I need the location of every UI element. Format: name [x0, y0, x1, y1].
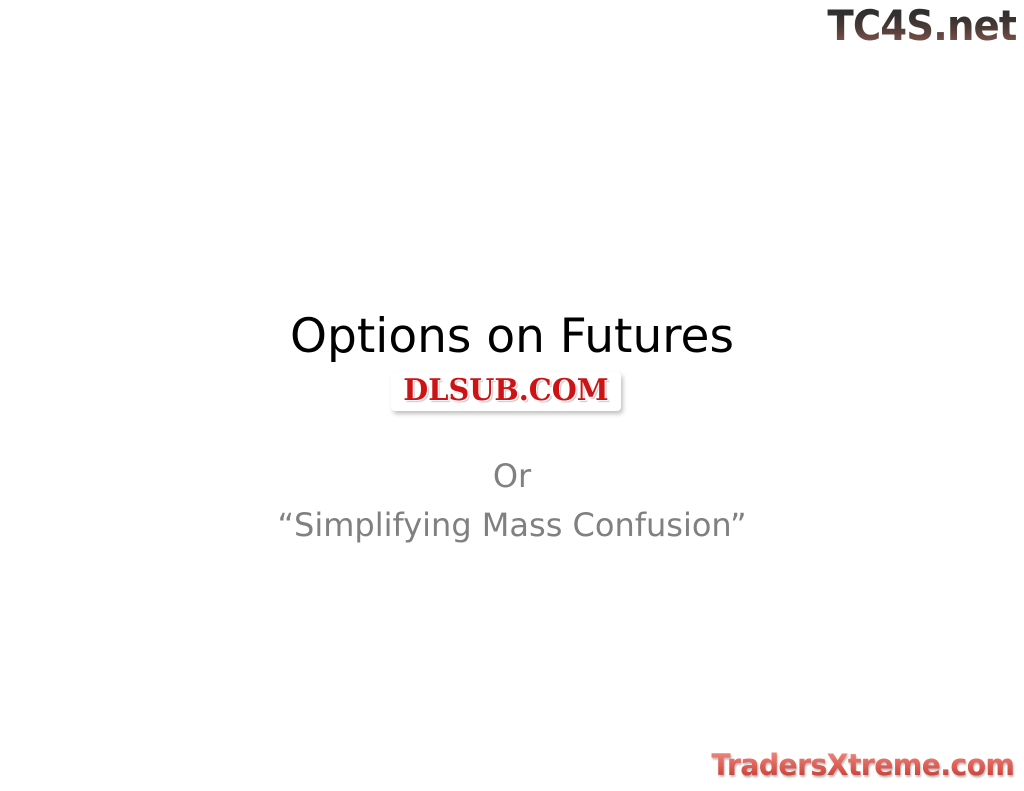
- subtitle-line-2: “Simplifying Mass Confusion”: [0, 501, 1024, 550]
- page-title: Options on Futures: [0, 308, 1024, 366]
- tradersxtreme-watermark: TradersXtreme.com TradersXtreme.com: [702, 747, 1014, 783]
- tc4s-watermark: TC4S.net: [827, 2, 1016, 50]
- tradersxtreme-watermark-outline: TradersXtreme.com: [711, 747, 1014, 783]
- presentation-slide: TC4S.net Options on Futures DLSUB.COM Or…: [0, 0, 1024, 791]
- subtitle-block: Or “Simplifying Mass Confusion”: [0, 452, 1024, 550]
- dlsub-watermark: DLSUB.COM: [0, 372, 1024, 411]
- dlsub-watermark-badge: DLSUB.COM: [391, 372, 621, 411]
- title-block: Options on Futures: [0, 308, 1024, 366]
- tradersxtreme-watermark-label: TradersXtreme.com: [711, 747, 1014, 783]
- subtitle-line-1: Or: [0, 452, 1024, 501]
- dlsub-watermark-label: DLSUB.COM: [403, 374, 608, 408]
